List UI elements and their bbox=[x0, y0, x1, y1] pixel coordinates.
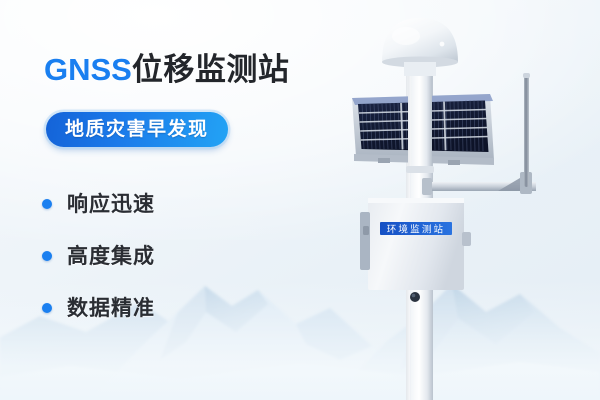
headline-accent: GNSS bbox=[44, 52, 132, 87]
bracket-arm-icon bbox=[422, 172, 536, 195]
page-title: GNSS位移监测站 bbox=[44, 54, 289, 85]
gnss-station-illustration: 环境监测站 bbox=[330, 0, 600, 400]
dome-antenna-icon bbox=[382, 18, 458, 76]
list-item: 响应迅速 bbox=[42, 178, 155, 230]
feature-label: 数据精准 bbox=[67, 298, 155, 319]
dot-icon bbox=[42, 303, 52, 313]
feature-list: 响应迅速 高度集成 数据精准 bbox=[42, 178, 155, 334]
feature-label: 高度集成 bbox=[67, 246, 155, 267]
product-banner: 环境监测站 GNSS位移监测站 地质灾害早发现 响应迅速 高度集成 数据精准 bbox=[0, 0, 600, 400]
feature-label: 响应迅速 bbox=[67, 194, 155, 215]
headline-main: 位移监测站 bbox=[132, 52, 290, 87]
status-badge-label: 地质灾害早发现 bbox=[65, 120, 209, 139]
sensor-icon bbox=[410, 292, 420, 302]
list-item: 高度集成 bbox=[42, 230, 155, 282]
status-badge: 地质灾害早发现 bbox=[46, 112, 228, 147]
whip-antenna-icon bbox=[523, 73, 530, 187]
dot-icon bbox=[42, 199, 52, 209]
dot-icon bbox=[42, 251, 52, 261]
enclosure-label-text: 环境监测站 bbox=[387, 224, 446, 236]
enclosure-icon: 环境监测站 bbox=[360, 198, 471, 290]
list-item: 数据精准 bbox=[42, 282, 155, 334]
